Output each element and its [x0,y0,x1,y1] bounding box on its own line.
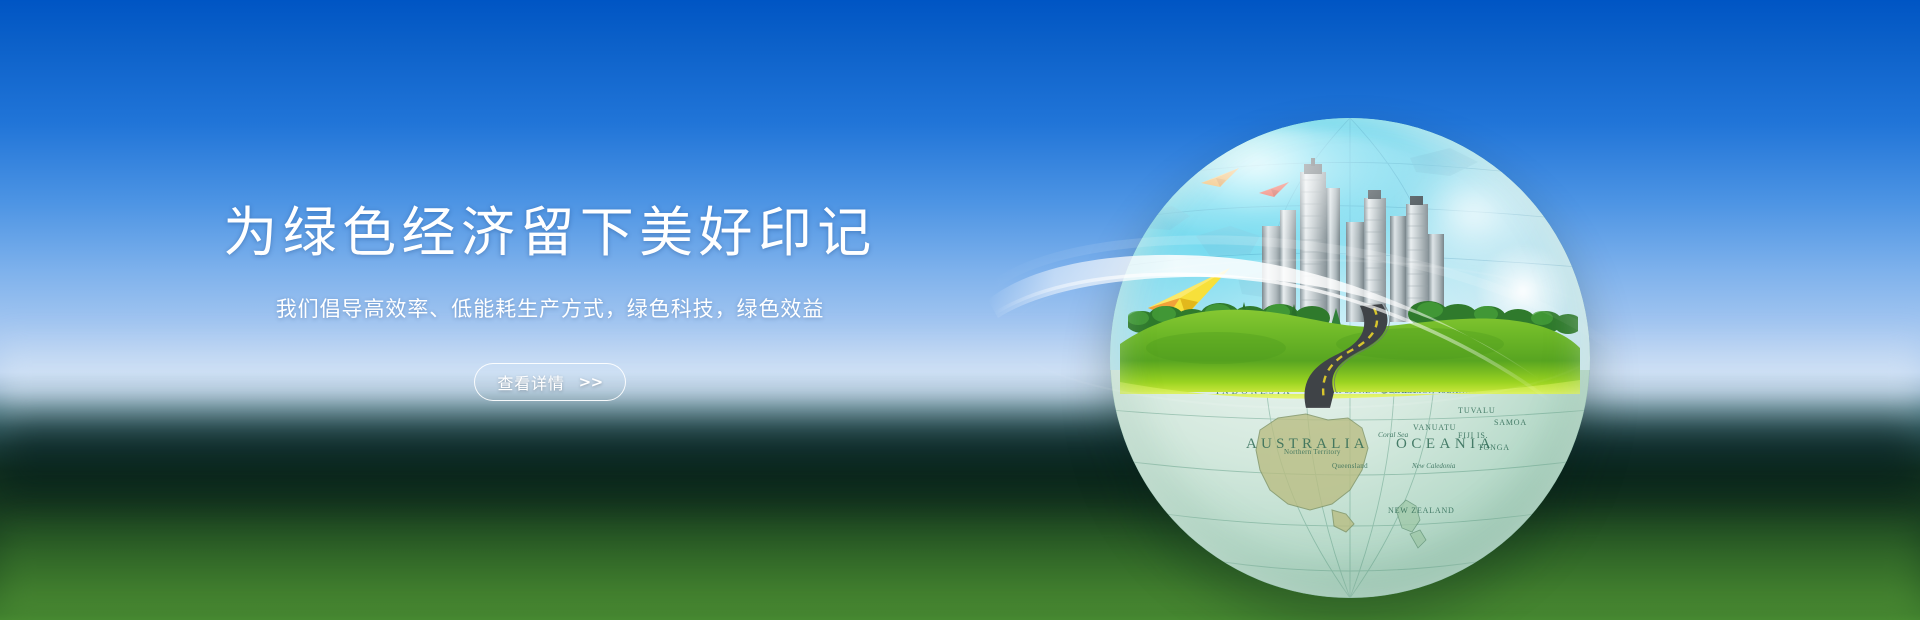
globe-upper-dome [1110,118,1590,370]
view-details-button[interactable]: 查看详情 >> [474,363,625,401]
page-subtitle: 我们倡导高效率、低能耗生产方式，绿色科技，绿色效益 [276,293,825,323]
view-details-label: 查看详情 [497,370,564,394]
double-chevron-right-icon: >> [579,373,603,391]
paper-plane-orange-icon [1200,166,1240,188]
globe-sphere: North Pacific Ocean Wake Island PHILIPPI… [1110,118,1590,598]
hero-copy: 为绿色经济留下美好印记 我们倡导高效率、低能耗生产方式，绿色科技，绿色效益 查看… [0,0,1100,620]
globe-illustration: North Pacific Ocean Wake Island PHILIPPI… [1110,118,1590,598]
page-title: 为绿色经济留下美好印记 [223,199,876,267]
dome-map-overlay [1110,118,1590,370]
paper-plane-red-icon [1258,180,1290,198]
hero-banner: North Pacific Ocean Wake Island PHILIPPI… [0,0,1920,620]
